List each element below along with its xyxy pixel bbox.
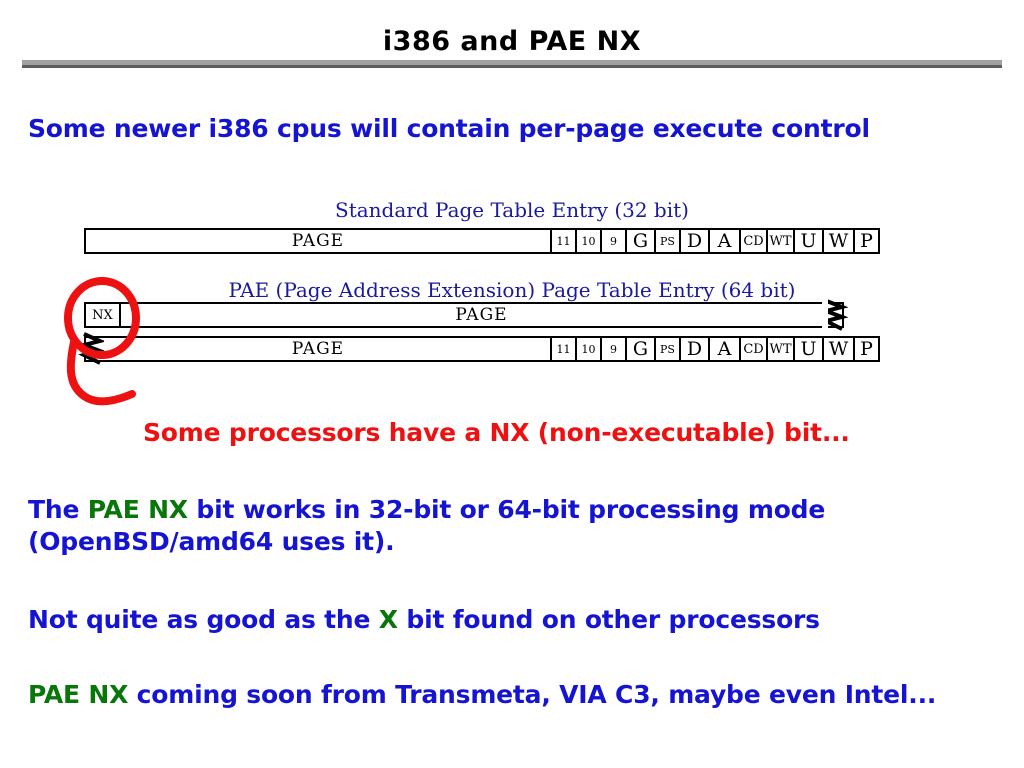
pae-cell-a: A (708, 338, 739, 360)
pae-nx-paragraph-highlight: PAE NX (88, 495, 188, 524)
pae-cell-bit-11: 11 (550, 338, 575, 360)
pte-cell-wt: WT (766, 230, 793, 252)
pte-cell-ps: PS (654, 230, 679, 252)
coming-soon-line: PAE NX coming soon from Transmeta, VIA C… (28, 680, 936, 709)
pae-cell-w: W (822, 338, 853, 360)
pte-cell-page: PAGE (86, 230, 550, 252)
pae-cell-g: G (625, 338, 654, 360)
pae-low-cell-page: PAGE (86, 338, 550, 360)
pte-cell-p: P (853, 230, 878, 252)
not-quite-pre: Not quite as good as the (28, 605, 379, 634)
page-title: i386 and PAE NX (0, 26, 1024, 57)
pte-cell-w: W (822, 230, 853, 252)
pae-pte-row-high: NX PAGE (84, 302, 844, 328)
pte-cell-u: U (793, 230, 822, 252)
pae-high-cell-page: PAGE (119, 304, 842, 326)
title-divider (22, 60, 1002, 68)
break-zigzag-icon-left (78, 332, 104, 366)
coming-soon-highlight: PAE NX (28, 680, 128, 709)
pte-cell-nx: NX (86, 304, 119, 326)
pte-cell-g: G (625, 230, 654, 252)
pae-cell-bit-9: 9 (600, 338, 625, 360)
pae-cell-p: P (853, 338, 878, 360)
not-quite-line: Not quite as good as the X bit found on … (28, 605, 820, 634)
pae-nx-paragraph: The PAE NX bit works in 32-bit or 64-bit… (28, 494, 908, 558)
pte-cell-bit-10: 10 (575, 230, 600, 252)
pae-nx-paragraph-pre: The (28, 495, 88, 524)
pte-cell-cd: CD (739, 230, 766, 252)
pte-cell-d: D (679, 230, 708, 252)
not-quite-highlight: X (379, 605, 398, 634)
pae-cell-wt: WT (766, 338, 793, 360)
nx-bit-note: Some processors have a NX (non-executabl… (143, 418, 850, 447)
pae-cell-ps: PS (654, 338, 679, 360)
pae-pte-row-low: PAGE 11 10 9 G PS D A CD WT U W P (84, 336, 880, 362)
pte-cell-bit-9: 9 (600, 230, 625, 252)
pte-cell-a: A (708, 230, 739, 252)
pae-cell-bit-10: 10 (575, 338, 600, 360)
pae-cell-cd: CD (739, 338, 766, 360)
standard-pte-caption: Standard Page Table Entry (32 bit) (0, 198, 1024, 222)
pae-pte-caption: PAE (Page Address Extension) Page Table … (0, 278, 1024, 302)
not-quite-post: bit found on other processors (398, 605, 820, 634)
intro-text: Some newer i386 cpus will contain per-pa… (28, 114, 870, 143)
break-zigzag-icon-right (822, 298, 848, 332)
standard-pte-row: PAGE 11 10 9 G PS D A CD WT U W P (84, 228, 880, 254)
pae-cell-u: U (793, 338, 822, 360)
pae-cell-d: D (679, 338, 708, 360)
coming-soon-post: coming soon from Transmeta, VIA C3, mayb… (128, 680, 936, 709)
pte-cell-bit-11: 11 (550, 230, 575, 252)
page-table-entry-diagram: Standard Page Table Entry (32 bit) PAGE … (0, 190, 1024, 410)
